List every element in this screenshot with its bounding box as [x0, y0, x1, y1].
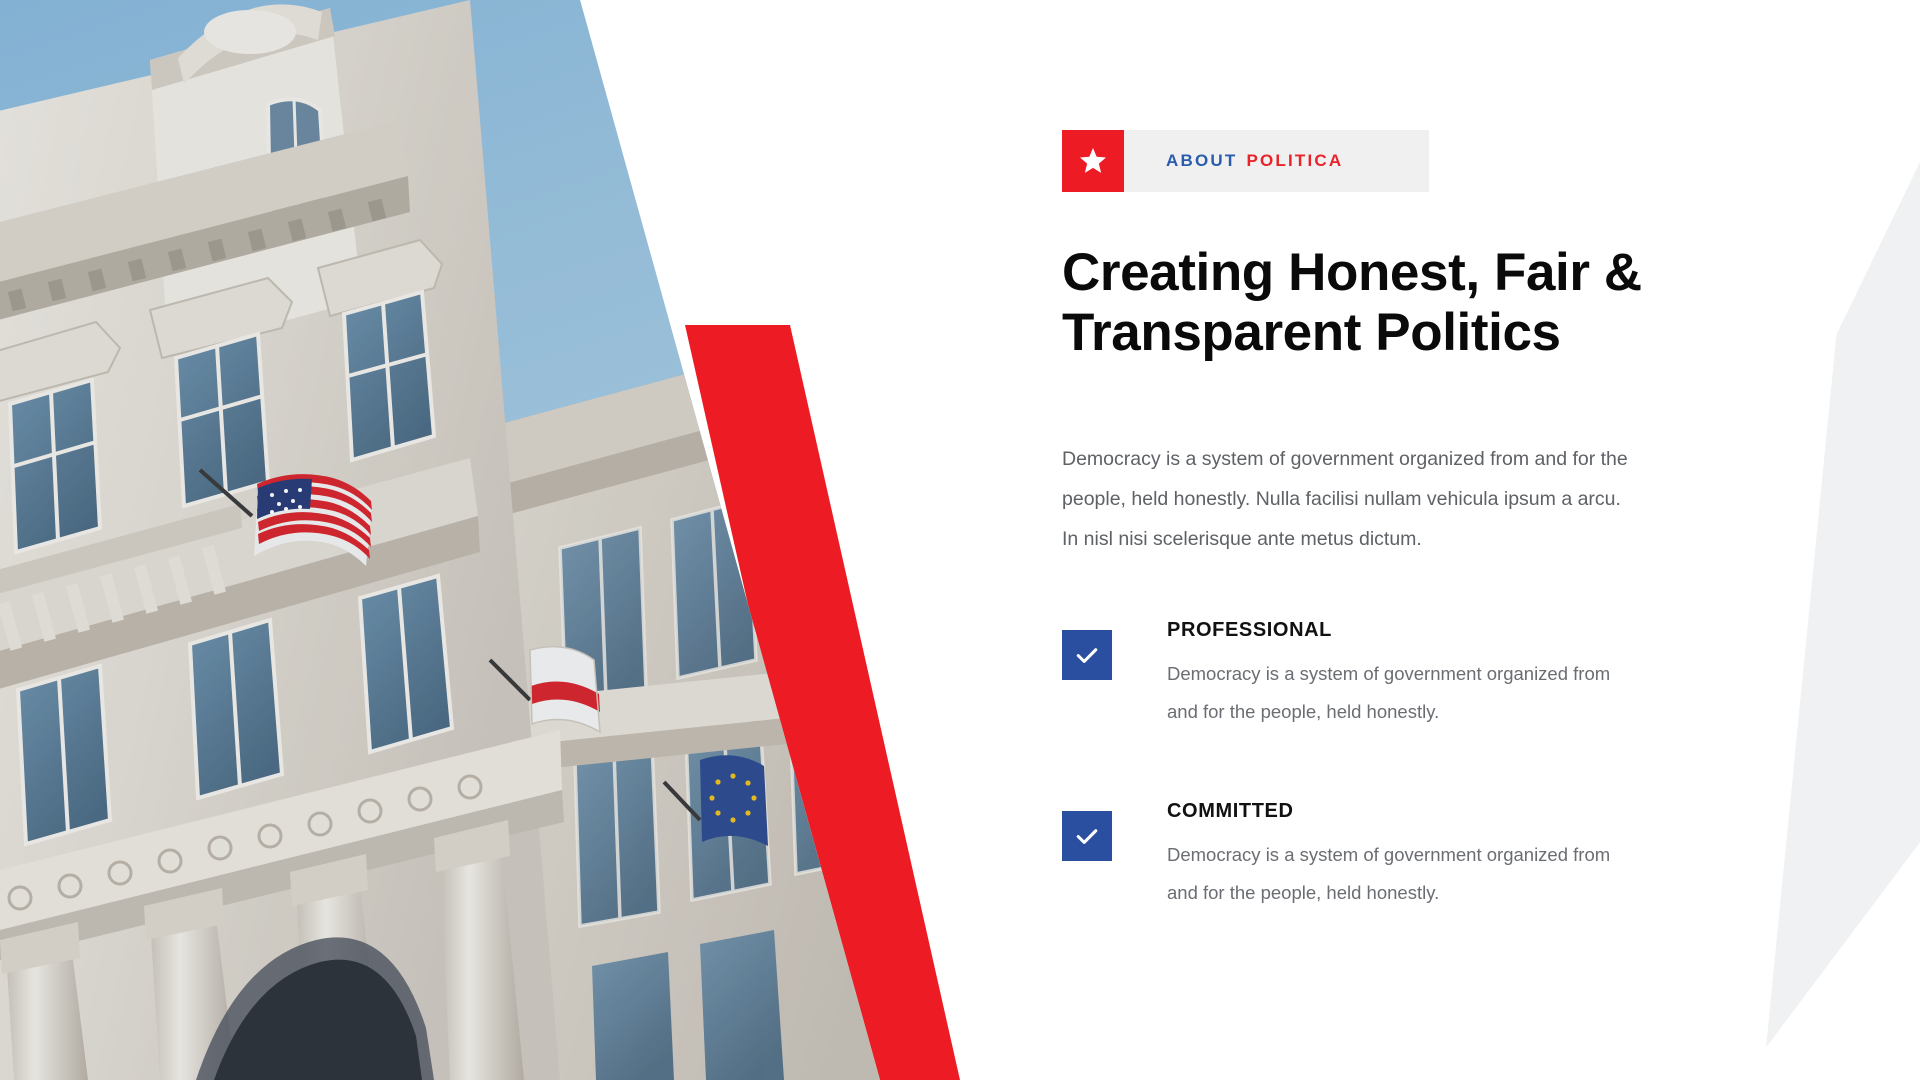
badge-brand-text: POLITICA [1246, 151, 1343, 171]
feature-description: Democracy is a system of government orga… [1167, 836, 1637, 912]
feature-list: PROFESSIONAL Democracy is a system of go… [1062, 615, 1682, 945]
check-icon [1062, 811, 1112, 861]
badge-about-text: ABOUT [1166, 151, 1237, 171]
section-badge: ABOUT POLITICA [1062, 130, 1429, 192]
decorative-gray-wedge [1700, 0, 1920, 1080]
about-slide: ABOUT POLITICA Creating Honest, Fair & T… [0, 0, 1920, 1080]
lead-paragraph: Democracy is a system of government orga… [1062, 440, 1634, 560]
feature-description: Democracy is a system of government orga… [1167, 655, 1637, 731]
page-title: Creating Honest, Fair & Transparent Poli… [1062, 243, 1762, 363]
check-icon [1062, 630, 1112, 680]
list-item: COMMITTED Democracy is a system of gover… [1062, 800, 1682, 945]
feature-body: COMMITTED Democracy is a system of gover… [1062, 800, 1682, 912]
badge-label: ABOUT POLITICA [1124, 130, 1429, 192]
content-column: ABOUT POLITICA Creating Honest, Fair & T… [1062, 0, 1682, 1080]
feature-title: COMMITTED [1167, 800, 1682, 823]
feature-body: PROFESSIONAL Democracy is a system of go… [1062, 619, 1682, 731]
feature-title: PROFESSIONAL [1167, 619, 1682, 642]
list-item: PROFESSIONAL Democracy is a system of go… [1062, 619, 1682, 764]
star-icon [1062, 130, 1124, 192]
